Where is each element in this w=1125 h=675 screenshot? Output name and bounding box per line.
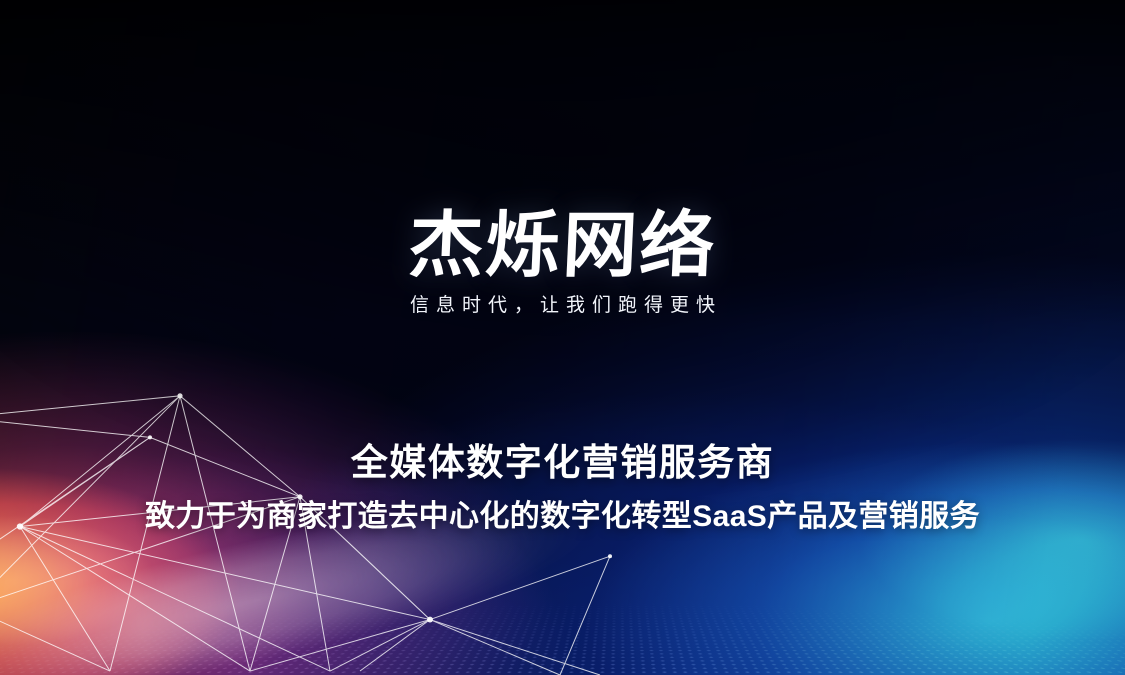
- page-headline: 全媒体数字化营销服务商: [145, 440, 980, 486]
- brand-wordmark: 杰烁网络: [395, 206, 730, 284]
- banner-content: 杰烁网络 信息时代，让我们跑得更快 全媒体数字化营销服务商 致力于为商家打造去中…: [0, 0, 1125, 675]
- brand-logo-block: 杰烁网络 信息时代，让我们跑得更快: [403, 206, 722, 318]
- headline-block: 全媒体数字化营销服务商 致力于为商家打造去中心化的数字化转型SaaS产品及营销服…: [145, 440, 980, 536]
- hero-banner: 杰烁网络 信息时代，让我们跑得更快 全媒体数字化营销服务商 致力于为商家打造去中…: [0, 0, 1125, 675]
- page-subheadline: 致力于为商家打造去中心化的数字化转型SaaS产品及营销服务: [145, 498, 980, 536]
- brand-tagline: 信息时代，让我们跑得更快: [403, 294, 722, 318]
